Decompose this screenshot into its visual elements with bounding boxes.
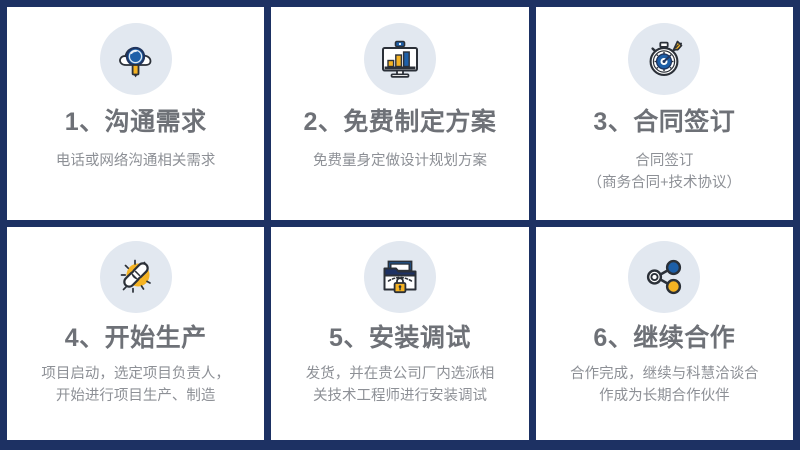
step-description: 项目启动，选定项目负责人， 开始进行项目生产、制造 <box>33 363 238 408</box>
folder-lock-icon <box>364 241 436 313</box>
step-description: 合作完成，继续与科慧洽谈合 作成为长期合作伙伴 <box>562 363 767 408</box>
stopwatch-arrow-icon <box>628 23 700 95</box>
share-network-icon <box>628 241 700 313</box>
step-description-line: （商务合同+技术协议） <box>588 172 741 194</box>
step-description-line: 合作完成，继续与科慧洽谈合 <box>570 363 759 385</box>
step-description-line: 电话或网络沟通相关需求 <box>56 150 216 172</box>
step-description: 合同签订 （商务合同+技术协议） <box>580 150 749 195</box>
step-description-line: 作成为长期合作伙伴 <box>570 385 759 407</box>
step-title: 4、开始生产 <box>65 325 207 353</box>
magnifier-cloud-icon <box>100 23 172 95</box>
monitor-bar-chart-icon <box>364 23 436 95</box>
step-title: 2、免费制定方案 <box>304 109 497 137</box>
step-description-line: 项目启动，选定项目负责人， <box>41 363 230 385</box>
steps-grid: 1、沟通需求 电话或网络沟通相关需求 <box>0 0 800 450</box>
step-description: 电话或网络沟通相关需求 <box>48 150 224 172</box>
step-description-line: 开始进行项目生产、制造 <box>41 385 230 407</box>
step-card-1[interactable]: 1、沟通需求 电话或网络沟通相关需求 <box>7 7 264 220</box>
step-card-3[interactable]: 3、合同签订 合同签订 （商务合同+技术协议） <box>536 7 793 220</box>
step-description-line: 合同签订 <box>588 150 741 172</box>
chain-link-sun-icon <box>100 241 172 313</box>
step-description: 免费量身定做设计规划方案 <box>305 150 495 172</box>
step-description-line: 关技术工程师进行安装调试 <box>306 385 495 407</box>
step-description: 发货，并在贵公司厂内选派相 关技术工程师进行安装调试 <box>298 363 503 408</box>
step-card-2[interactable]: 2、免费制定方案 免费量身定做设计规划方案 <box>271 7 528 220</box>
step-description-line: 免费量身定做设计规划方案 <box>313 150 487 172</box>
step-card-6[interactable]: 6、继续合作 合作完成，继续与科慧洽谈合 作成为长期合作伙伴 <box>536 227 793 440</box>
process-steps-board: 1、沟通需求 电话或网络沟通相关需求 <box>0 0 800 450</box>
step-description-line: 发货，并在贵公司厂内选派相 <box>306 363 495 385</box>
step-title: 5、安装调试 <box>329 325 471 353</box>
step-card-4[interactable]: 4、开始生产 项目启动，选定项目负责人， 开始进行项目生产、制造 <box>7 227 264 440</box>
step-title: 6、继续合作 <box>593 325 735 353</box>
step-title: 1、沟通需求 <box>65 109 207 137</box>
step-title: 3、合同签订 <box>593 109 735 137</box>
step-card-5[interactable]: 5、安装调试 发货，并在贵公司厂内选派相 关技术工程师进行安装调试 <box>271 227 528 440</box>
